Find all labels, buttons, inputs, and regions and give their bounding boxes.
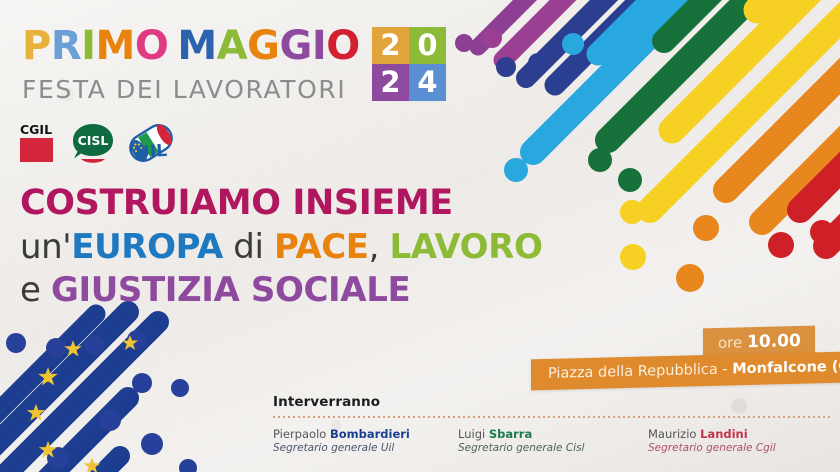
slogan-word-giustizia-sociale: GIUSTIZIA SOCIALE (51, 270, 410, 310)
time-value: 10.00 (747, 331, 801, 352)
speaker-last-name: Sbarra (489, 427, 532, 441)
cgil-logo[interactable]: CGIL (14, 119, 62, 167)
speaker-item-uil: Pierpaolo Bombardieri Segretario general… (273, 427, 458, 456)
speaker-item-cgil: Maurizio Landini Segretario generale Cgi… (648, 427, 776, 456)
slogan-word-europa: EUROPA (71, 227, 223, 267)
dotted-divider (273, 416, 833, 418)
speaker-name: Luigi Sbarra (458, 427, 648, 441)
title-letter-2: I (81, 26, 95, 66)
page-title: PRIMO MAGGIO (22, 26, 360, 66)
svg-text:CGIL: CGIL (20, 122, 52, 137)
title-space (168, 26, 177, 66)
speaker-first-name: Luigi (458, 427, 489, 441)
slogan-prefix-e: e (20, 270, 51, 310)
place-name: Piazza della Repubblica - (548, 361, 732, 382)
slogan-word-di: di (223, 227, 274, 267)
union-logos: CGIL CISL (14, 119, 178, 167)
year-digit-2: 2 (372, 64, 409, 101)
cisl-logo[interactable]: CISL (68, 119, 118, 167)
title-letter-6: M (177, 26, 216, 66)
speaker-role: Segretario generale Uil (273, 442, 458, 456)
year-digit-3: 4 (409, 64, 446, 101)
title-letter-8: G (247, 26, 279, 66)
speaker-first-name: Pierpaolo (273, 427, 330, 441)
title-letter-0: P (22, 26, 51, 66)
title-letter-7: A (217, 26, 247, 66)
speaker-name: Pierpaolo Bombardieri (273, 427, 458, 441)
slogan-comma: , (369, 227, 390, 267)
slogan-word-lavoro: LAVORO (389, 227, 542, 267)
time-label: ore (718, 333, 742, 352)
speaker-last-name: Bombardieri (330, 427, 410, 441)
slogan-word-pace: PACE (274, 227, 369, 267)
slogan-prefix-un: un' (20, 227, 71, 267)
speaker-item-cisl: Luigi Sbarra Segretario generale Cisl (458, 427, 648, 456)
year-badge-2024: 2024 (372, 27, 446, 101)
speaker-first-name: Maurizio (648, 427, 700, 441)
slogan-line-3: e GIUSTIZIA SOCIALE (20, 273, 542, 308)
svg-text:CISL: CISL (78, 133, 109, 148)
masthead: PRIMO MAGGIO FESTA DEI LAVORATORI (22, 26, 360, 102)
eu-flag-stripes (0, 312, 197, 472)
svg-text:UIL: UIL (136, 141, 168, 163)
speaker-role: Segretario generale Cisl (458, 442, 648, 456)
place-city: Monfalcone (GO) (732, 358, 840, 377)
slogan-block: COSTRUIAMO INSIEME un'EUROPA di PACE, LA… (20, 186, 542, 308)
speaker-name: Maurizio Landini (648, 427, 776, 441)
speaker-last-name: Landini (700, 427, 748, 441)
title-letter-1: R (51, 26, 81, 66)
title-letter-3: M (96, 26, 135, 66)
title-letter-9: G (279, 26, 311, 66)
title-letter-11: O (326, 26, 360, 66)
speakers-section: Interverranno Pierpaolo Bombardieri Segr… (273, 394, 833, 456)
eu-stars (27, 335, 138, 472)
title-letter-4: O (135, 26, 169, 66)
slogan-line-2: un'EUROPA di PACE, LAVORO (20, 230, 542, 265)
title-letter-10: I (312, 26, 326, 66)
poster-canvas: PRIMO MAGGIO FESTA DEI LAVORATORI 2024 C… (0, 0, 840, 472)
speakers-heading: Interverranno (273, 394, 833, 410)
slogan-line-1: COSTRUIAMO INSIEME (20, 186, 542, 222)
subtitle: FESTA DEI LAVORATORI (22, 77, 360, 102)
speaker-list: Pierpaolo Bombardieri Segretario general… (273, 427, 833, 456)
place-banner: Piazza della Repubblica - Monfalcone (GO… (531, 351, 840, 391)
year-digit-1: 0 (409, 27, 446, 64)
speaker-role: Segretario generale Cgil (648, 442, 776, 456)
year-digit-0: 2 (372, 27, 409, 64)
uil-logo[interactable]: UIL (124, 119, 178, 167)
